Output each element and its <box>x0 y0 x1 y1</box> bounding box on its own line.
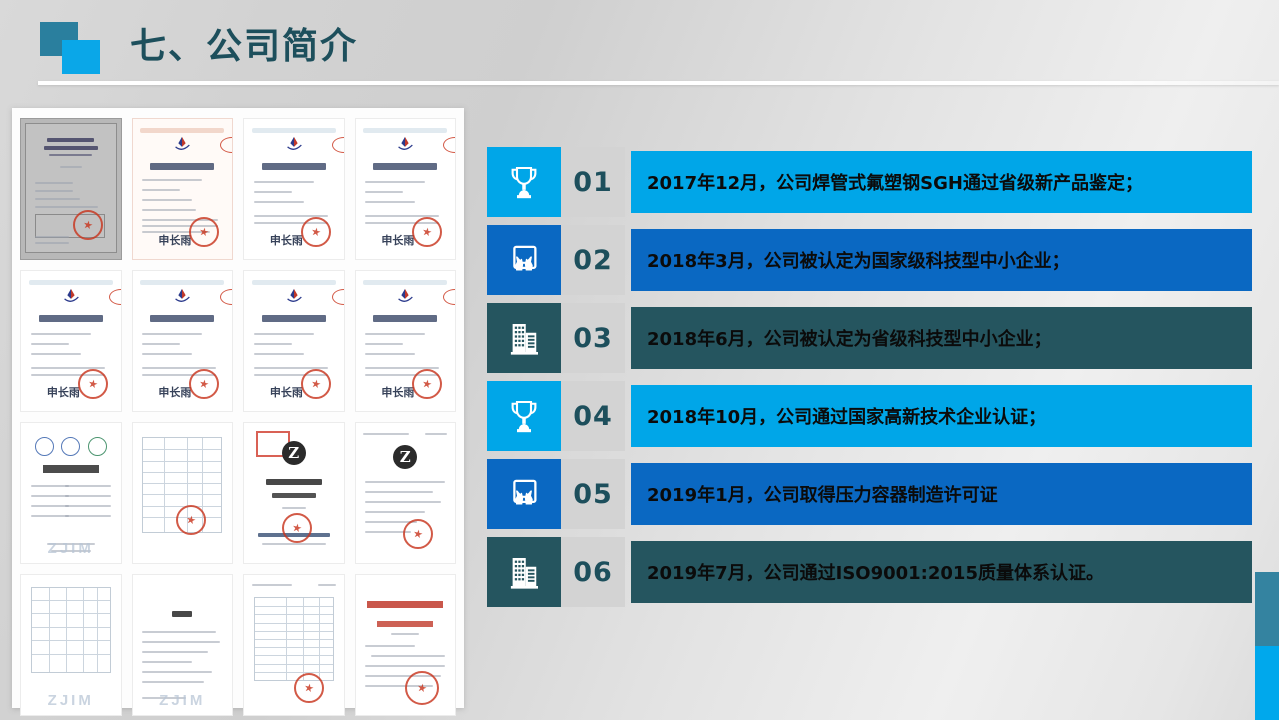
official-seal <box>282 513 312 543</box>
achievement-icon-cell <box>487 459 561 529</box>
achievement-row[interactable]: 01 2017年12月，公司焊管式氟塑钢SGH通过省级新产品鉴定； <box>487 147 1252 217</box>
doc-subtitle-bar <box>377 621 433 627</box>
achievement-row[interactable]: 04 2018年10月，公司通过国家高新技术企业认证； <box>487 381 1252 451</box>
official-seal <box>189 217 219 247</box>
page-title: 七、公司简介 <box>130 17 358 69</box>
cert-header-ornament <box>363 128 447 133</box>
achievement-icon-cell <box>487 381 561 451</box>
achievement-row[interactable]: 03 2018年6月，公司被认定为省级科技型中小企业； <box>487 303 1252 373</box>
document-statement: ZJIM <box>132 574 234 716</box>
achievement-text: 2018年6月，公司被认定为省级科技型中小企业； <box>631 307 1252 369</box>
cma-badge-icon <box>35 437 54 456</box>
achievement-list: 01 2017年12月，公司焊管式氟塑钢SGH通过省级新产品鉴定； 02 201… <box>487 147 1252 615</box>
cert-title-bar <box>373 315 437 322</box>
official-seal <box>78 369 108 399</box>
cert-title-bar <box>150 315 214 322</box>
certificate-utility-model-patent: 申长雨 <box>132 270 234 412</box>
official-seal <box>412 369 442 399</box>
cert-title-bar <box>150 163 214 170</box>
patent-emblem-icon <box>283 287 305 309</box>
cert-header-ornament <box>252 128 336 133</box>
achievement-icon-cell <box>487 225 561 295</box>
decor-strip-teal <box>1255 572 1279 646</box>
cert-title-bar <box>262 315 326 322</box>
document-provincial-new-product <box>355 574 457 716</box>
decor-square-light <box>62 40 100 74</box>
certificate-utility-model-patent: 申长雨 <box>355 270 457 412</box>
watermark: ZJIM <box>48 692 94 709</box>
cal-badge-icon <box>61 437 80 456</box>
registration-oval-seal <box>443 289 456 305</box>
document-certification-record: Z <box>355 422 457 564</box>
official-seal <box>412 217 442 247</box>
header-divider <box>38 81 1279 85</box>
registration-oval-seal <box>332 289 345 305</box>
z-certification-logo-icon: Z <box>282 441 306 465</box>
official-seal <box>294 673 324 703</box>
certificate-row: ZJIM ZJIM <box>20 574 456 716</box>
registration-oval-seal <box>109 289 122 305</box>
achievement-text: 2019年7月，公司通过ISO9001:2015质量体系认证。 <box>631 541 1252 603</box>
accreditation-badges <box>31 437 111 456</box>
tablet-hands-icon <box>503 473 545 515</box>
cert-header-ornament <box>252 280 336 285</box>
registration-oval-seal <box>220 137 233 153</box>
trophy-icon <box>503 161 545 203</box>
certificate-row: 申长雨 申长雨 <box>20 118 456 260</box>
achievement-number: 03 <box>561 303 625 373</box>
document-data-table: ZJIM <box>20 574 122 716</box>
certificate-row: ZJIM Z <box>20 422 456 564</box>
report-title-bar <box>43 465 99 473</box>
certificate-invention-patent: 申长雨 <box>132 118 234 260</box>
slide-header: 七、公司简介 <box>0 0 1279 95</box>
registration-oval-seal <box>332 137 345 153</box>
patent-emblem-icon <box>171 135 193 157</box>
achievement-icon-cell <box>487 147 561 217</box>
cert-header-ornament <box>29 280 113 285</box>
official-seal <box>176 505 206 535</box>
certificate-utility-model-patent: 申长雨 <box>355 118 457 260</box>
official-seal <box>73 210 103 240</box>
certificate-utility-model-patent: 申长雨 <box>243 270 345 412</box>
official-seal <box>301 369 331 399</box>
patent-emblem-icon <box>394 135 416 157</box>
patent-emblem-icon <box>60 287 82 309</box>
achievement-number: 01 <box>561 147 625 217</box>
certificate-special-equipment-license <box>20 118 122 260</box>
slide-root: 七、公司简介 <box>0 0 1279 720</box>
certificate-gallery: 申长雨 申长雨 <box>12 108 464 708</box>
decor-strip-cyan <box>1255 646 1279 720</box>
trophy-icon <box>503 395 545 437</box>
official-seal <box>301 217 331 247</box>
license-frame <box>25 123 117 253</box>
document-data-table <box>243 574 345 716</box>
document-test-report: ZJIM <box>20 422 122 564</box>
building-icon <box>503 551 545 593</box>
achievement-text: 2019年1月，公司取得压力容器制造许可证 <box>631 463 1252 525</box>
official-seal <box>403 519 433 549</box>
watermark: ZJIM <box>48 540 94 557</box>
certificate-utility-model-patent: 申长雨 <box>20 270 122 412</box>
certificate-row: 申长雨 申长雨 <box>20 270 456 412</box>
achievement-row[interactable]: 05 2019年1月，公司取得压力容器制造许可证 <box>487 459 1252 529</box>
patent-emblem-icon <box>171 287 193 309</box>
cert-title-bar <box>39 315 103 322</box>
watermark: ZJIM <box>159 692 205 709</box>
cert-header-ornament <box>140 128 224 133</box>
achievement-number: 05 <box>561 459 625 529</box>
cert-title-bar <box>262 163 326 170</box>
achievement-icon-cell <box>487 303 561 373</box>
achievement-text: 2017年12月，公司焊管式氟塑钢SGH通过省级新产品鉴定； <box>631 151 1252 213</box>
patent-emblem-icon <box>283 135 305 157</box>
data-table <box>254 597 334 681</box>
building-icon <box>503 317 545 359</box>
document-inspection-table <box>132 422 234 564</box>
cert-title-bar <box>373 163 437 170</box>
achievement-row[interactable]: 06 2019年7月，公司通过ISO9001:2015质量体系认证。 <box>487 537 1252 607</box>
registration-oval-seal <box>443 137 456 153</box>
certificate-utility-model-patent: 申长雨 <box>243 118 345 260</box>
document-product-certification: Z <box>243 422 345 564</box>
official-seal <box>189 369 219 399</box>
tablet-hands-icon <box>503 239 545 281</box>
official-seal <box>405 671 439 705</box>
achievement-number: 02 <box>561 225 625 295</box>
data-table <box>31 587 111 673</box>
cert-header-ornament <box>363 280 447 285</box>
achievement-number: 04 <box>561 381 625 451</box>
achievement-text: 2018年10月，公司通过国家高新技术企业认证； <box>631 385 1252 447</box>
registration-oval-seal <box>220 289 233 305</box>
doc-title-bar <box>367 601 443 608</box>
patent-emblem-icon <box>394 287 416 309</box>
achievement-text: 2018年3月，公司被认定为国家级科技型中小企业； <box>631 229 1252 291</box>
z-certification-logo-icon: Z <box>393 445 417 469</box>
achievement-number: 06 <box>561 537 625 607</box>
cnas-badge-icon <box>88 437 107 456</box>
cert-header-ornament <box>140 280 224 285</box>
achievement-row[interactable]: 02 2018年3月，公司被认定为国家级科技型中小企业； <box>487 225 1252 295</box>
achievement-icon-cell <box>487 537 561 607</box>
